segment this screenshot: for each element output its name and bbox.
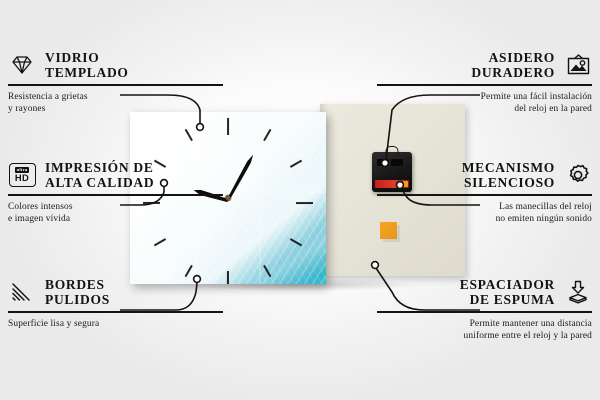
feature-title-line2: DURADERO <box>471 65 555 80</box>
feature-header: MECANISMO SILENCIOSO <box>377 160 592 190</box>
infographic-canvas: VIDRIO TEMPLADO Resistencia a grietasy r… <box>0 0 600 400</box>
feature-mecanismo-silencioso: MECANISMO SILENCIOSO Las manecillas del … <box>377 160 592 225</box>
feature-title-line2: SILENCIOSO <box>464 175 555 190</box>
feature-title-line1: ASIDERO <box>489 50 555 65</box>
feature-titles: MECANISMO SILENCIOSO <box>462 160 555 190</box>
feature-description: Superficie lisa y segura <box>8 318 223 330</box>
feature-espaciador-de-espuma: ESPACIADOR DE ESPUMA Permite mantener un… <box>377 277 592 342</box>
feature-title-line1: VIDRIO <box>45 50 129 65</box>
feature-titles: ESPACIADOR DE ESPUMA <box>460 277 555 307</box>
feature-title-line1: MECANISMO <box>462 160 555 175</box>
feature-description: Permite una fácil instalacióndel reloj e… <box>377 91 592 116</box>
feature-bordes-pulidos: BORDES PULIDOS Superficie lisa y segura <box>8 277 223 330</box>
feature-divider <box>8 311 223 312</box>
feature-titles: ASIDERO DURADERO <box>471 50 555 80</box>
polished-edges-icon <box>8 279 36 305</box>
gear-icon <box>564 162 592 188</box>
feature-titles: IMPRESIÓN DE ALTA CALIDAD <box>45 160 154 190</box>
feature-divider <box>377 84 592 85</box>
hd-badge-hd: HD <box>15 173 29 182</box>
feature-description: Resistencia a grietasy rayones <box>8 91 223 116</box>
ultra-hd-icon: ultra HD <box>8 162 36 188</box>
feature-divider <box>8 194 223 195</box>
feature-titles: BORDES PULIDOS <box>45 277 110 307</box>
feature-divider <box>8 84 223 85</box>
picture-hanger-icon <box>564 52 592 78</box>
feature-divider <box>377 194 592 195</box>
feature-asidero-duradero: ASIDERO DURADERO Permite una fácil insta… <box>377 50 592 115</box>
feature-title-line2: DE ESPUMA <box>470 292 555 307</box>
feature-description: Permite mantener una distanciauniforme e… <box>377 318 592 343</box>
feature-header: BORDES PULIDOS <box>8 277 223 307</box>
hanger-hook-icon <box>386 146 399 155</box>
feature-header: ultra HD IMPRESIÓN DE ALTA CALIDAD <box>8 160 223 190</box>
diamond-icon <box>8 52 36 78</box>
clock-center-pin <box>226 196 231 201</box>
feature-title-line1: ESPACIADOR <box>460 277 555 292</box>
feature-divider <box>377 311 592 312</box>
feature-title-line2: ALTA CALIDAD <box>45 175 154 190</box>
feature-vidrio-templado: VIDRIO TEMPLADO Resistencia a grietasy r… <box>8 50 223 115</box>
foam-spacer-icon <box>564 279 592 305</box>
feature-title-line1: BORDES <box>45 277 110 292</box>
feature-header: ASIDERO DURADERO <box>377 50 592 80</box>
feature-titles: VIDRIO TEMPLADO <box>45 50 129 80</box>
feature-header: ESPACIADOR DE ESPUMA <box>377 277 592 307</box>
feature-description: Colores intensose imagen vívida <box>8 201 223 226</box>
feature-impresion-alta-calidad: ultra HD IMPRESIÓN DE ALTA CALIDAD Color… <box>8 160 223 225</box>
feature-title-line2: TEMPLADO <box>45 65 129 80</box>
feature-title-line1: IMPRESIÓN DE <box>45 160 154 175</box>
feature-title-line2: PULIDOS <box>45 292 110 307</box>
hd-badge: ultra HD <box>9 163 36 187</box>
feature-header: VIDRIO TEMPLADO <box>8 50 223 80</box>
feature-description: Las manecillas del relojno emiten ningún… <box>377 201 592 226</box>
